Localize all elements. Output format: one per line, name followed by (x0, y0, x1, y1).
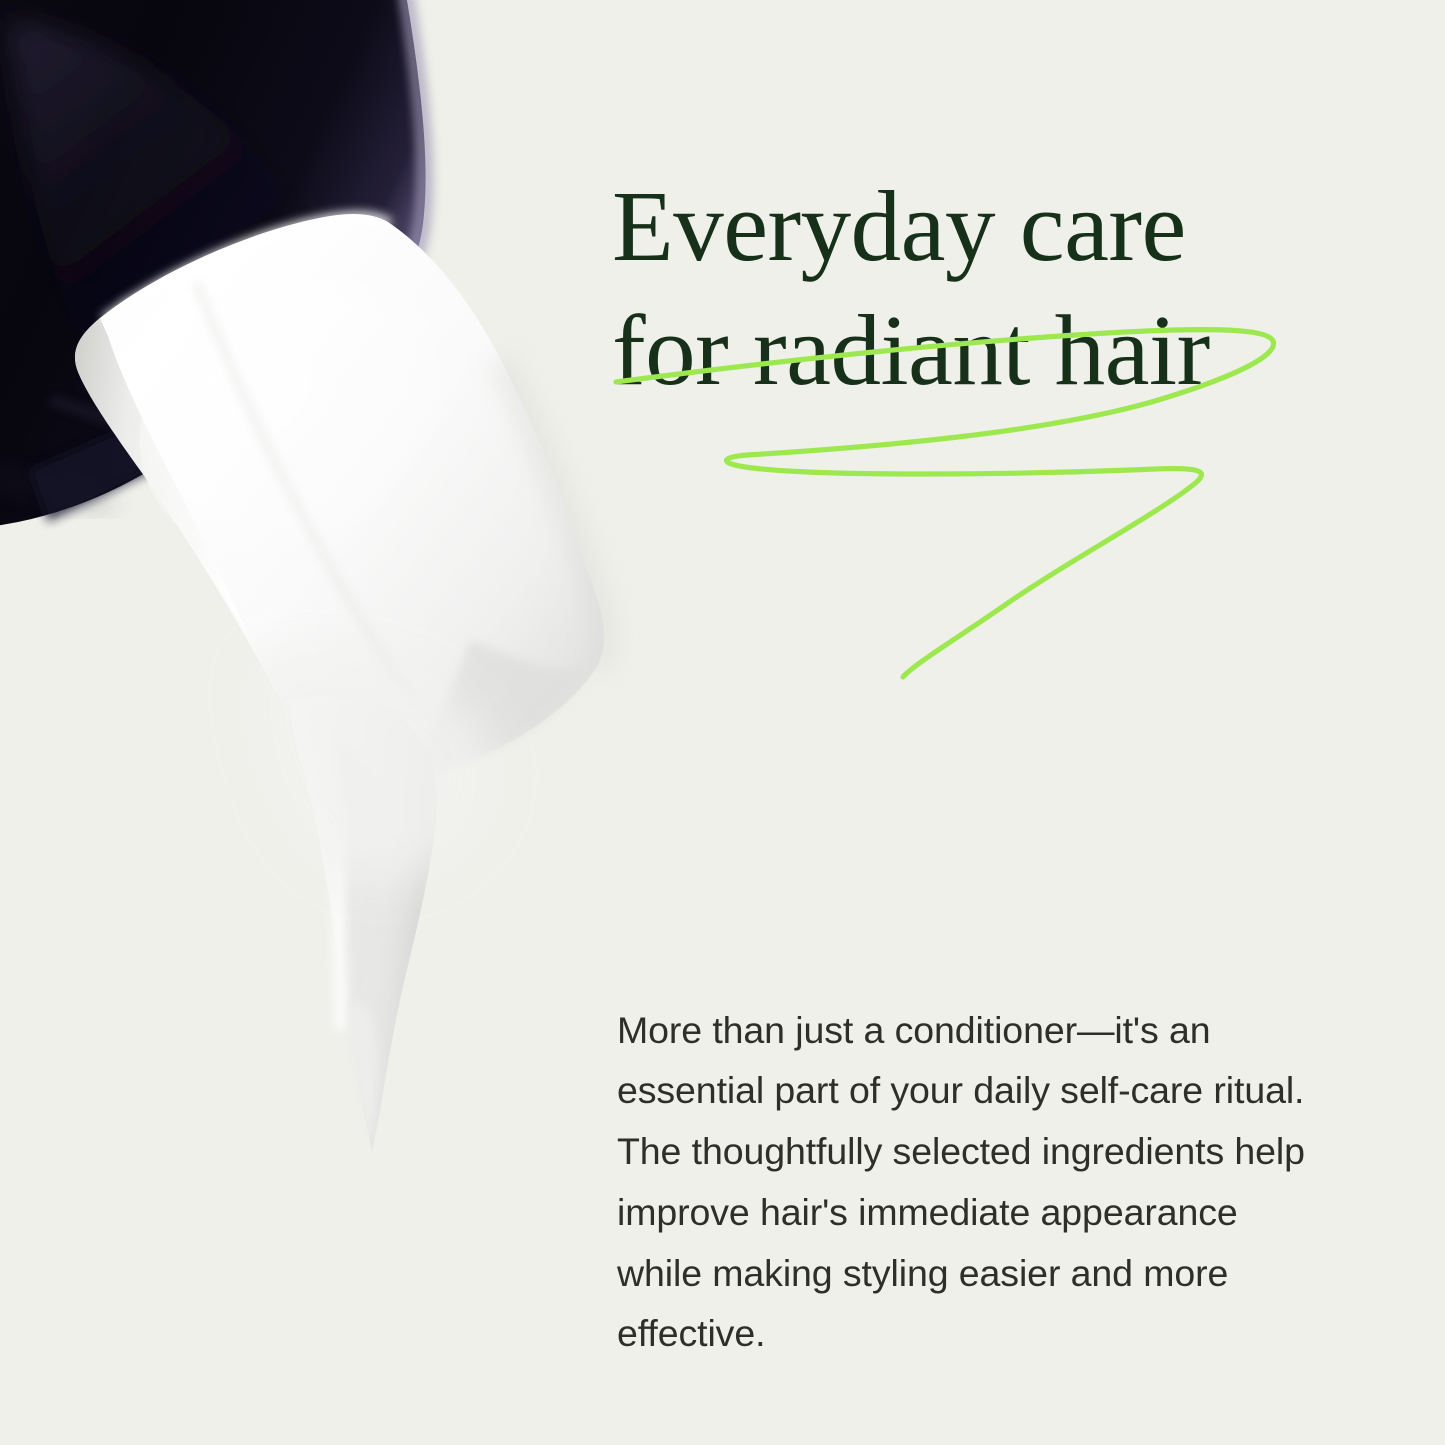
product-photo-illustration (0, 0, 700, 1250)
body-paragraph: More than just a conditioner—it's an ess… (617, 1000, 1317, 1365)
headline-line-1: Everyday care (612, 164, 1372, 288)
product-marketing-canvas: Everyday care for radiant hair More than… (0, 0, 1445, 1445)
headline-line-2: for radiant hair (612, 288, 1372, 412)
product-photo (0, 0, 700, 1250)
page-title: Everyday care for radiant hair (612, 164, 1372, 412)
cream-stream (250, 652, 497, 1152)
